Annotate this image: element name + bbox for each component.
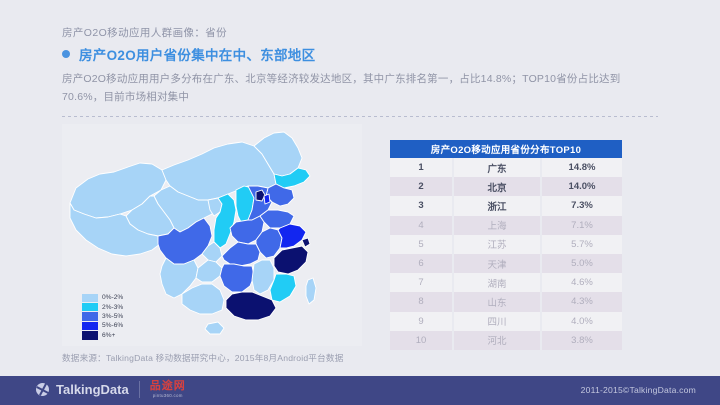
- cell-rank: 6: [390, 254, 452, 273]
- logo-separator: [139, 381, 140, 398]
- cell-value: 4.0%: [542, 312, 622, 331]
- copyright-text: 2011-2015©TalkingData.com: [581, 385, 696, 395]
- page-title: 房产O2O用户省份集中在中、东部地区: [79, 44, 315, 64]
- legend-item: 0%-2%: [82, 293, 123, 302]
- legend-label-3: 5%-6%: [102, 322, 123, 329]
- cell-name: 浙江: [454, 196, 540, 215]
- talkingdata-mark-icon: [36, 383, 49, 396]
- table-row: 10 河北 3.8%: [390, 331, 622, 350]
- cell-rank: 8: [390, 292, 452, 311]
- cell-value: 7.3%: [542, 196, 622, 215]
- region-guizhou: [196, 260, 222, 282]
- cell-value: 4.6%: [542, 273, 622, 292]
- table-row: 3 浙江 7.3%: [390, 196, 622, 215]
- table-row: 1 广东 14.8%: [390, 158, 622, 177]
- legend-item: 5%-6%: [82, 321, 123, 330]
- cell-name: 湖南: [454, 273, 540, 292]
- cell-value: 14.0%: [542, 177, 622, 196]
- region-jiangsu: [278, 224, 306, 248]
- cell-name: 北京: [454, 177, 540, 196]
- cell-name: 广东: [454, 158, 540, 177]
- headline-row: 房产O2O用户省份集中在中、东部地区: [62, 44, 315, 64]
- legend-swatch-1: [82, 303, 98, 311]
- cell-rank: 1: [390, 158, 452, 177]
- cell-value: 3.8%: [542, 331, 622, 350]
- china-choropleth-map: 0%-2% 2%-3% 3%-5% 5%-6% 6%+: [62, 124, 362, 346]
- table-row: 2 北京 14.0%: [390, 177, 622, 196]
- cell-name: 上海: [454, 216, 540, 235]
- cell-name: 天津: [454, 254, 540, 273]
- legend-label-4: 6%+: [102, 332, 115, 339]
- cell-name: 山东: [454, 292, 540, 311]
- region-hunan: [220, 264, 254, 292]
- map-legend-box: 0%-2% 2%-3% 3%-5% 5%-6% 6%+: [82, 293, 123, 340]
- table-row: 7 湖南 4.6%: [390, 273, 622, 292]
- partner-logo: 品途网 pintu360.com: [150, 381, 186, 398]
- region-shanghai: [302, 238, 310, 247]
- legend-label-1: 2%-3%: [102, 304, 123, 311]
- cell-rank: 4: [390, 216, 452, 235]
- cell-name: 江苏: [454, 235, 540, 254]
- partner-url: pintu360.com: [153, 394, 183, 398]
- region-guangxi: [182, 284, 224, 314]
- cell-value: 14.8%: [542, 158, 622, 177]
- region-zhejiang: [274, 246, 308, 274]
- cell-value: 4.3%: [542, 292, 622, 311]
- region-hubei: [222, 242, 260, 266]
- legend-item: 6%+: [82, 331, 123, 340]
- table-row: 4 上海 7.1%: [390, 216, 622, 235]
- page-footer: TalkingData 品途网 pintu360.com 2011-2015©T…: [0, 376, 720, 405]
- province-ranking-table: 房产O2O移动应用省份分布TOP10 1 广东 14.8% 2 北京 14.0%…: [390, 140, 622, 350]
- brand-logo: TalkingData 品途网 pintu360.com: [36, 381, 186, 398]
- table-row: 5 江苏 5.7%: [390, 235, 622, 254]
- table-row: 8 山东 4.3%: [390, 292, 622, 311]
- legend-label-0: 0%-2%: [102, 294, 123, 301]
- region-tianjin: [264, 194, 270, 204]
- cell-value: 5.0%: [542, 254, 622, 273]
- cell-value: 5.7%: [542, 235, 622, 254]
- legend-label-2: 3%-5%: [102, 313, 123, 320]
- slide-root: 房产O2O移动应用人群画像：省份 房产O2O用户省份集中在中、东部地区 房产O2…: [0, 0, 720, 405]
- cell-rank: 2: [390, 177, 452, 196]
- table-row: 6 天津 5.0%: [390, 254, 622, 273]
- cell-rank: 9: [390, 312, 452, 331]
- page-kicker: 房产O2O移动应用人群画像：省份: [62, 25, 227, 40]
- legend-swatch-2: [82, 312, 98, 320]
- cell-rank: 3: [390, 196, 452, 215]
- region-guangdong: [226, 292, 276, 320]
- legend-swatch-4: [82, 331, 98, 339]
- page-description: 房产O2O移动应用用户多分布在广东、北京等经济较发达地区，其中广东排名第一，占比…: [62, 70, 652, 106]
- data-source-note: 数据来源：TalkingData 移动数据研究中心，2015年8月Android…: [62, 352, 343, 364]
- legend-swatch-0: [82, 294, 98, 302]
- cell-rank: 7: [390, 273, 452, 292]
- partner-name: 品途网: [150, 381, 186, 392]
- cell-name: 四川: [454, 312, 540, 331]
- brand-name: TalkingData: [56, 382, 129, 397]
- cell-value: 7.1%: [542, 216, 622, 235]
- legend-item: 3%-5%: [82, 312, 123, 321]
- section-divider: [62, 116, 658, 117]
- region-taiwan: [306, 278, 316, 304]
- region-hainan: [205, 322, 224, 334]
- bullet-dot-icon: [62, 50, 70, 58]
- table-title: 房产O2O移动应用省份分布TOP10: [390, 140, 622, 158]
- legend-item: 2%-3%: [82, 302, 123, 311]
- cell-name: 河北: [454, 331, 540, 350]
- table-row: 9 四川 4.0%: [390, 312, 622, 331]
- cell-rank: 5: [390, 235, 452, 254]
- cell-rank: 10: [390, 331, 452, 350]
- legend-swatch-3: [82, 322, 98, 330]
